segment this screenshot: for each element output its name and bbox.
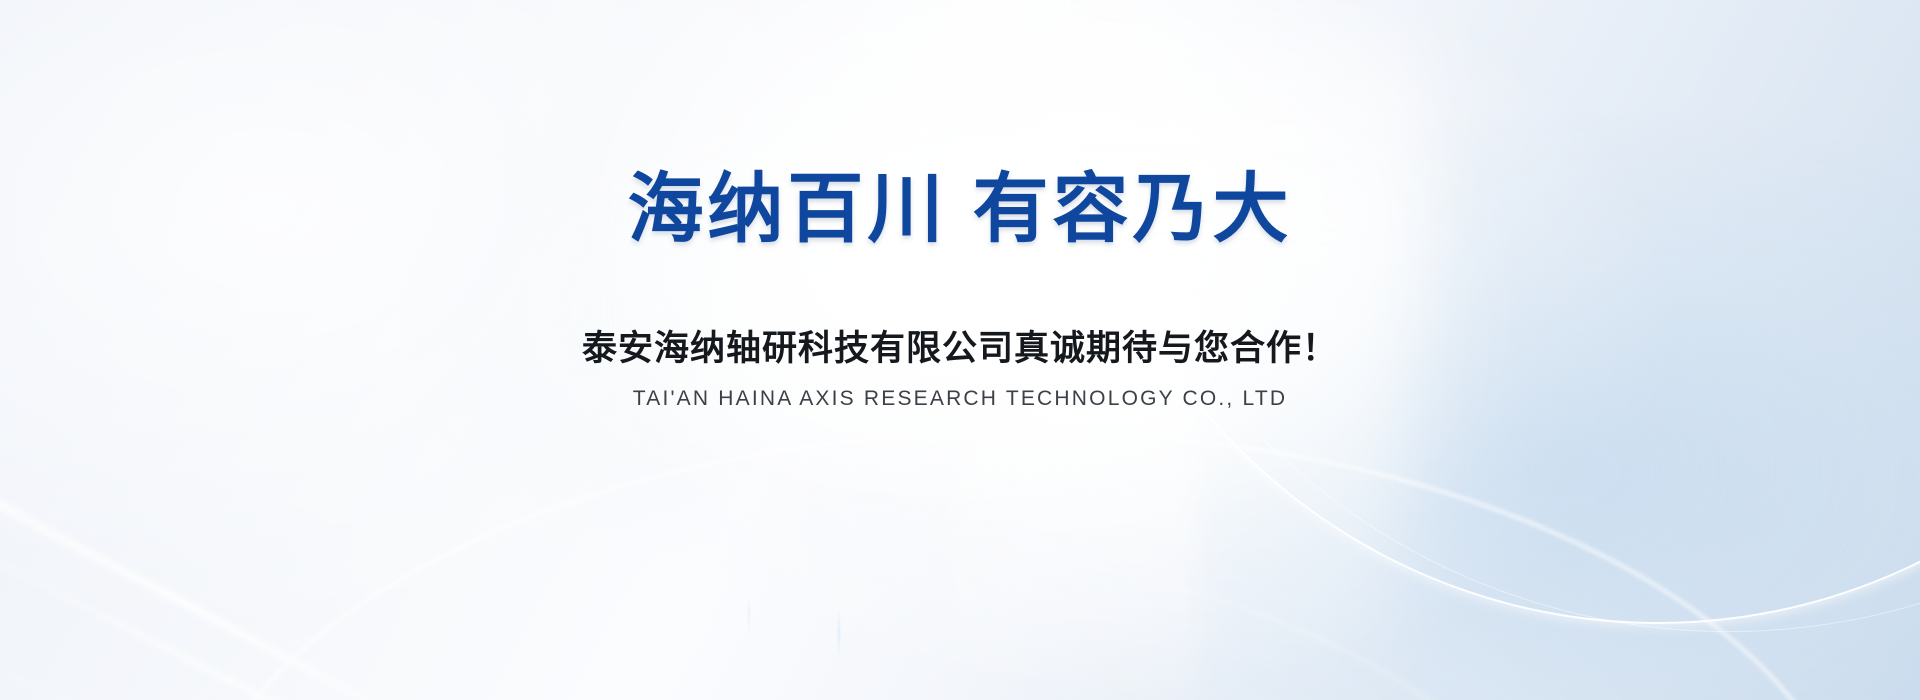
- banner-headline: 海纳百川 有容乃大: [627, 172, 1292, 248]
- banner-english-subtitle: TAI'AN HAINA AXIS RESEARCH TECHNOLOGY CO…: [633, 387, 1287, 411]
- hero-banner: 海纳百川 有容乃大 泰安海纳轴研科技有限公司真诚期待与您合作！ TAI'AN H…: [0, 0, 1920, 700]
- banner-subtitle: 泰安海纳轴研科技有限公司真诚期待与您合作！: [582, 320, 1338, 371]
- banner-content: 海纳百川 有容乃大 泰安海纳轴研科技有限公司真诚期待与您合作！ TAI'AN H…: [0, 0, 1920, 700]
